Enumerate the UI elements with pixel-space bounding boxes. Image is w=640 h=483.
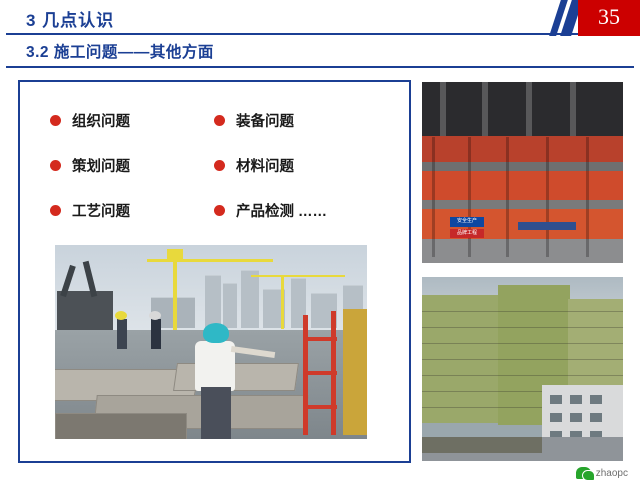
list-item: 工艺问题 [50,200,130,221]
red-site-sign: 品牌工程 [450,229,484,238]
subtitle-divider [6,66,634,68]
photo-building [223,283,237,328]
photo-window [570,395,582,404]
list-item-label: 工艺问题 [72,200,130,221]
slide-footer: zhaopc [0,461,640,483]
photo-column [570,82,576,138]
list-item: 组织问题 [50,110,130,131]
photo-person-helmet [115,311,127,320]
list-item: 材料问题 [214,155,294,176]
list-item-label: 策划问题 [72,155,130,176]
photo-precast-slab [173,363,299,391]
photo-column [526,82,532,138]
photo-crane-top [167,249,183,260]
section-subtitle: 3.2 施工问题——其他方面 [26,40,214,62]
watermark-text: zhaopc [596,468,628,479]
photo-floor-slab [422,200,623,209]
photo-banner [518,222,576,230]
page-title: 3 几点认识 [26,6,114,31]
photo-site-yard [422,437,542,453]
photo-building [241,270,259,328]
list-item-label: 装备问题 [236,110,294,131]
slide-header: 3 几点认识 3.2 施工问题——其他方面 35 [0,0,640,70]
photo-formwork-rib [546,137,549,257]
top-right-photo: 安全生产 品牌工程 [420,80,625,265]
list-item: 产品检测 …… [214,200,327,221]
bullet-dot-icon [50,205,61,216]
photo-red-scaffold [303,405,337,409]
photo-window [590,395,602,404]
bottom-right-photo [420,275,625,463]
photo-precast-slab [55,413,187,441]
photo-formwork-rib [506,137,509,257]
photo-window [590,413,602,422]
list-item-label: 组织问题 [72,110,130,131]
photo-yellow-machine [343,309,370,435]
bullet-dot-icon [50,115,61,126]
photo-formwork-rib [432,137,435,257]
photo-floor-slab [422,162,623,171]
bullet-dot-icon [214,115,225,126]
photo-column [440,82,446,138]
photo-lower-structure [422,239,623,263]
photo-red-scaffold [303,315,308,435]
bullet-dot-icon [214,205,225,216]
photo-floor-line [422,375,625,376]
photo-structure-dark [422,82,623,136]
photo-crane-jib [147,259,273,262]
photo-column [482,82,488,138]
photo-crane-jib [251,275,345,277]
blue-site-sign: 安全生产 [450,217,484,227]
photo-window [550,413,562,422]
main-construction-photo [52,242,370,442]
photo-crane-mast [173,259,177,331]
content-box: 组织问题 装备问题 策划问题 材料问题 工艺问题 产品检测 …… [18,80,411,463]
photo-window [550,395,562,404]
photo-crane-mast [281,275,284,329]
bullet-list: 组织问题 装备问题 策划问题 材料问题 工艺问题 产品检测 …… [36,100,396,235]
photo-floor-line [422,311,625,312]
photo-worker-helmet [203,323,229,343]
page-number: 35 [578,0,640,36]
photo-person [151,319,161,349]
photo-red-formwork [422,136,623,161]
photo-person-helmet [149,311,161,320]
title-divider [6,33,634,35]
photo-formwork-rib [468,137,471,257]
slide: 3 几点认识 3.2 施工问题——其他方面 35 组织问题 装备问题 策划问题 [0,0,640,483]
list-item: 策划问题 [50,155,130,176]
bullet-dot-icon [50,160,61,171]
list-item-label: 材料问题 [236,155,294,176]
photo-floor-line [422,343,625,344]
watermark: zhaopc [576,467,628,479]
photo-red-scaffold [303,371,337,375]
wechat-icon [576,467,591,479]
photo-formwork-rib [586,137,589,257]
photo-worker-torso [195,341,235,391]
photo-red-scaffold [303,337,337,341]
photo-person [117,319,127,349]
photo-window [570,413,582,422]
photo-worker-legs [201,387,231,439]
list-item: 装备问题 [214,110,294,131]
list-item-label: 产品检测 …… [236,200,327,221]
photo-floor-line [422,359,625,360]
photo-red-formwork [422,171,623,200]
bullet-dot-icon [214,160,225,171]
photo-floor-line [422,327,625,328]
page-number-flag: 35 [544,0,640,36]
photo-building [205,275,221,328]
